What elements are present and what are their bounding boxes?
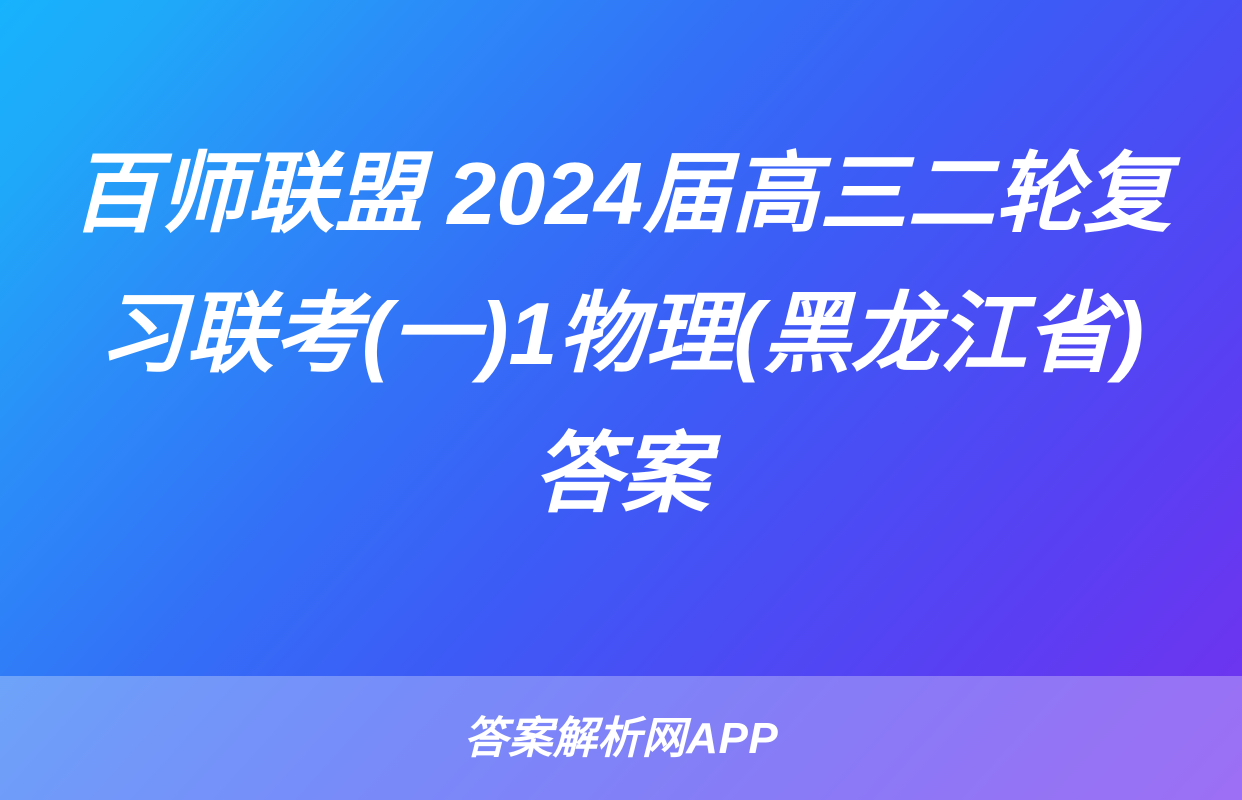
app-watermark-label: 答案解析网APP bbox=[464, 717, 778, 761]
footer-watermark-band: 答案解析网APP bbox=[0, 676, 1242, 800]
poster-canvas: 百师联盟 2024届高三二轮复习联考(一)1物理(黑龙江省)答案 答案解析网AP… bbox=[0, 0, 1242, 800]
page-title: 百师联盟 2024届高三二轮复习联考(一)1物理(黑龙江省)答案 bbox=[70, 124, 1172, 544]
title-block: 百师联盟 2024届高三二轮复习联考(一)1物理(黑龙江省)答案 bbox=[0, 0, 1242, 676]
